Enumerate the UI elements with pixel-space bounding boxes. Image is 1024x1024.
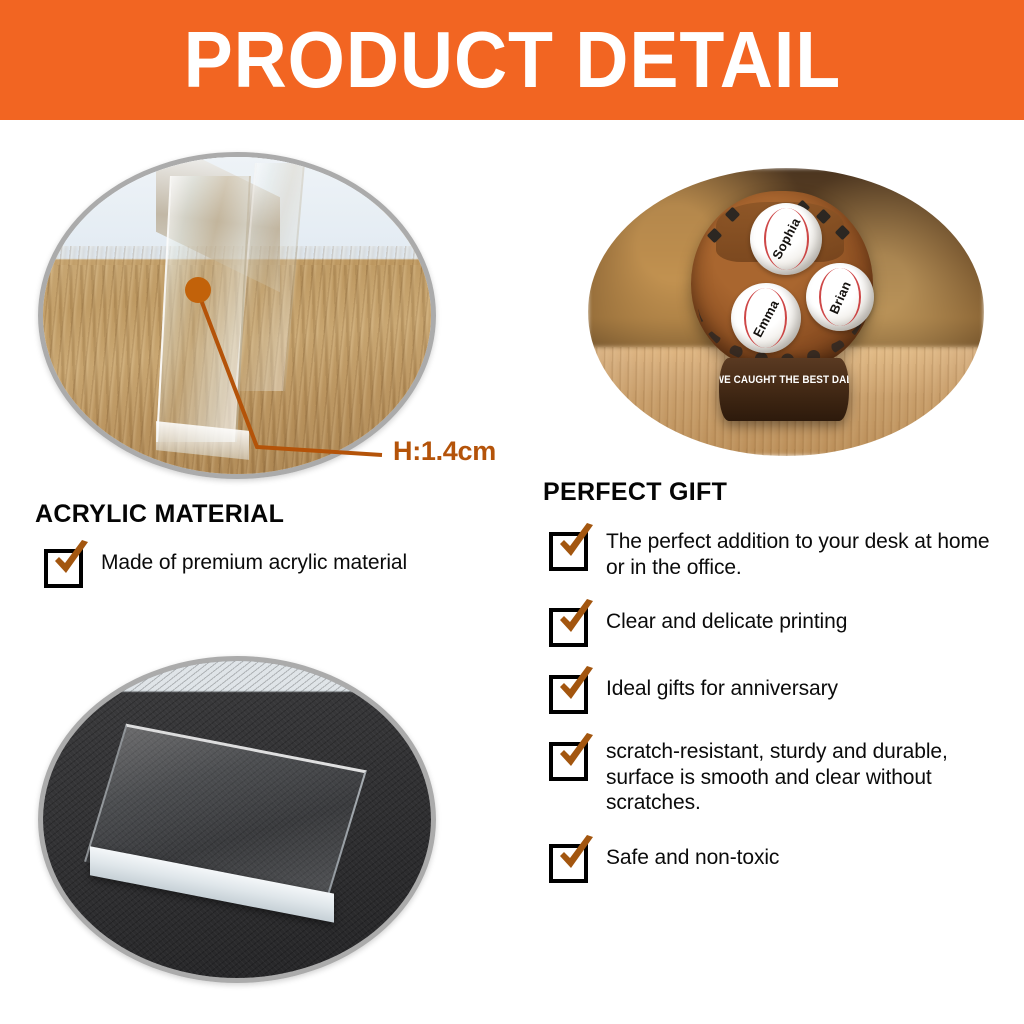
slate-background	[43, 661, 431, 978]
trophy-base: WE CAUGHT THE BEST DAD	[719, 358, 850, 421]
feature-list-acrylic-material: Made of premium acrylic material	[44, 545, 514, 588]
checkmark-icon	[549, 844, 588, 883]
product-detail-infographic: PRODUCT DETAIL Sophia	[0, 0, 1024, 1024]
wood-table-background	[43, 157, 431, 474]
checkmark-icon	[549, 675, 588, 714]
feature-text: Safe and non-toxic	[588, 840, 779, 871]
checkmark-icon	[44, 549, 83, 588]
feature-item: Safe and non-toxic	[549, 840, 1009, 883]
feature-item: Ideal gifts for anniversary	[549, 671, 1009, 714]
photo-acrylic-block-edge	[38, 152, 436, 479]
photo-baseball-glove-trophy: Sophia Brian Emma WE CAUGHT THE BEST DAD	[588, 168, 984, 456]
feature-text: Ideal gifts for anniversary	[588, 671, 838, 702]
feature-text: Clear and delicate printing	[588, 604, 847, 635]
feature-text: The perfect addition to your desk at hom…	[588, 528, 1009, 580]
acrylic-front-face	[156, 176, 251, 442]
baseball-emma: Emma	[731, 283, 801, 353]
dimension-label: H:1.4cm	[393, 436, 496, 467]
checkmark-icon	[549, 742, 588, 781]
feature-item: Made of premium acrylic material	[44, 545, 514, 588]
trophy-base-text: WE CAUGHT THE BEST DAD	[719, 374, 850, 386]
feature-item: scratch-resistant, sturdy and durable, s…	[549, 738, 1009, 816]
feature-item: Clear and delicate printing	[549, 604, 1009, 647]
feature-list-perfect-gift: The perfect addition to your desk at hom…	[549, 528, 1009, 907]
header-banner: PRODUCT DETAIL	[0, 0, 1024, 120]
feature-text: Made of premium acrylic material	[83, 545, 407, 576]
feature-item: The perfect addition to your desk at hom…	[549, 528, 1009, 580]
section-title-acrylic-material: ACRYLIC MATERIAL	[35, 500, 284, 529]
feature-text: scratch-resistant, sturdy and durable, s…	[588, 738, 1009, 816]
checkmark-icon	[549, 532, 588, 571]
section-title-perfect-gift: PERFECT GIFT	[543, 478, 727, 507]
baseball-sophia: Sophia	[750, 203, 822, 275]
photo-acrylic-block-on-slate	[38, 656, 436, 983]
baseball-brian: Brian	[806, 263, 874, 331]
checkmark-icon	[549, 608, 588, 647]
page-title: PRODUCT DETAIL	[183, 20, 841, 100]
